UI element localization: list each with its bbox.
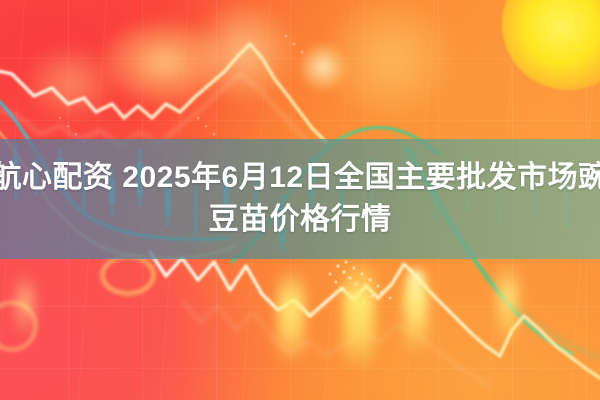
dotted-diagonal-marks xyxy=(329,260,392,303)
banner-image: 航心配资 2025年6月12日全国主要批发市场豌 豆苗价格行情 xyxy=(0,0,600,400)
headline-text-block: 航心配资 2025年6月12日全国主要批发市场豌 豆苗价格行情 xyxy=(0,139,600,259)
dotted-marks-upper xyxy=(59,35,304,144)
headline-line-2: 豆苗价格行情 xyxy=(209,199,392,241)
headline-line-1: 航心配资 2025年6月12日全国主要批发市场豌 xyxy=(0,157,600,199)
white-zigzag-bottom-faint xyxy=(182,300,488,386)
white-zigzag-bottom-right xyxy=(150,252,600,378)
white-zigzag-top-left xyxy=(0,44,326,142)
white-zigzag-secondary xyxy=(0,74,312,146)
